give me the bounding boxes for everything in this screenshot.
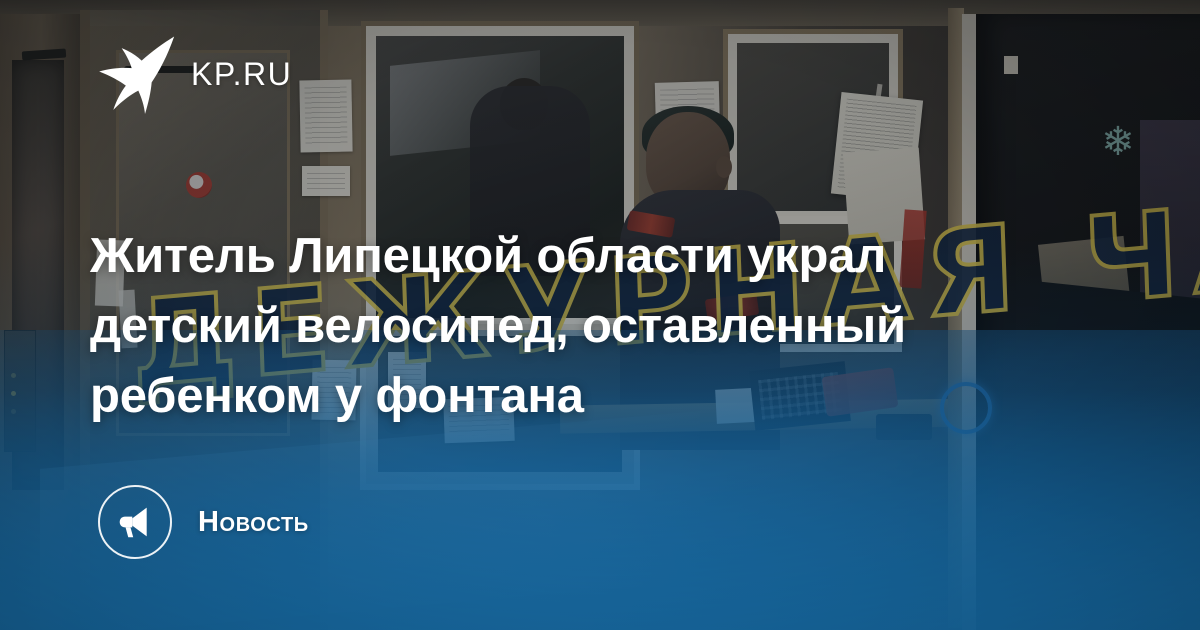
badge-label: Новость <box>198 506 309 539</box>
headline-line-1: Житель Липецкой области украл <box>90 229 886 283</box>
headline-line-2: детский велосипед, оставленный <box>90 299 906 353</box>
badge-icon-circle <box>98 485 172 559</box>
share-card: ❄ ДЕЖУРНАЯ ЧАСТЬ KP.RU Житель Липецкой о… <box>0 0 1200 630</box>
brand-name: KP.RU <box>191 56 292 93</box>
page-title: Житель Липецкой области украл детский ве… <box>90 221 1070 431</box>
headline-line-3: ребенком у фонтана <box>90 369 584 423</box>
card-content: KP.RU Житель Липецкой области украл детс… <box>0 0 1200 630</box>
brand-logo[interactable]: KP.RU <box>93 34 292 114</box>
megaphone-icon <box>117 504 153 540</box>
swallow-bird-icon <box>93 34 177 114</box>
status-badge[interactable]: Новость <box>98 485 309 559</box>
